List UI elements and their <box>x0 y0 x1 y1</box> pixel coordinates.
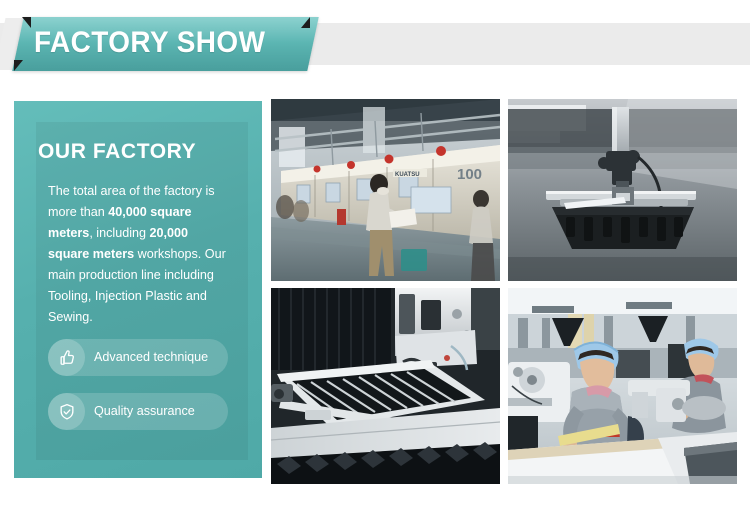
thumbs-up-icon <box>48 339 85 376</box>
our-factory-description: The total area of the factory is more th… <box>48 181 230 328</box>
photo-sewing-workshop <box>508 288 737 484</box>
photo-robotic-gripper <box>508 99 737 281</box>
photo-injection-molding-line-image: KUATSU 100 <box>271 99 500 281</box>
ribbon-notch-top-left-icon <box>22 17 31 28</box>
shield-check-icon <box>48 393 85 430</box>
photo-sewing-workshop-image <box>508 288 737 484</box>
feature-pill-advanced-technique[interactable]: Advanced technique <box>48 339 228 376</box>
photo-injection-molding-line: KUATSU 100 <box>271 99 500 281</box>
photo-robotic-gripper-image <box>508 99 737 281</box>
ribbon-notch-top-right-icon <box>301 17 310 28</box>
photo-cnc-cutting-machine <box>271 288 500 484</box>
svg-text:KUATSU: KUATSU <box>395 172 420 178</box>
page-header: FACTORY SHOW <box>0 0 750 90</box>
photo-cnc-cutting-machine-image <box>271 288 500 484</box>
ribbon-notch-bottom-left-icon <box>14 60 23 71</box>
page-title: FACTORY SHOW <box>34 23 265 63</box>
feature-pill-label: Quality assurance <box>94 393 195 430</box>
our-factory-heading: OUR FACTORY <box>38 140 196 164</box>
svg-text:100: 100 <box>457 166 482 183</box>
desc-text-2: , including <box>89 226 149 240</box>
feature-pill-label: Advanced technique <box>94 339 208 376</box>
feature-pill-quality-assurance[interactable]: Quality assurance <box>48 393 228 430</box>
